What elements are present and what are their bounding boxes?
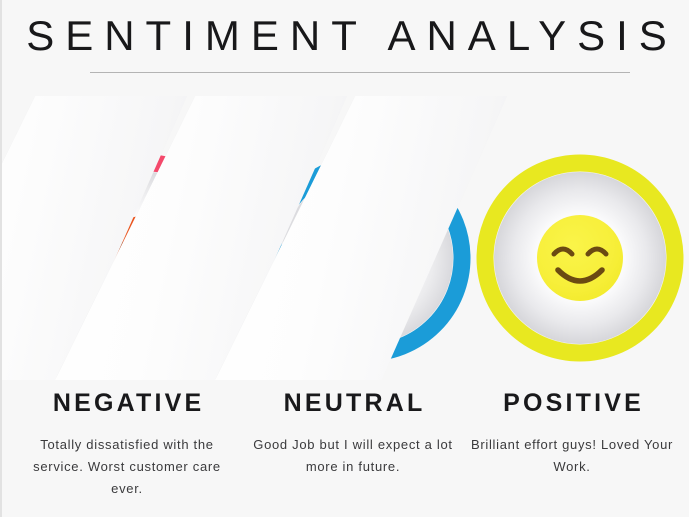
panel-overlay-positive — [215, 96, 507, 380]
positive-indicator[interactable] — [476, 154, 684, 362]
captions: NEGATIVE Totally dissatisfied with the s… — [2, 384, 689, 517]
caption-positive: POSITIVE Brilliant effort guys! Loved Yo… — [457, 384, 687, 478]
caption-negative: NEGATIVE Totally dissatisfied with the s… — [12, 384, 242, 500]
page-title: SENTIMENT ANALYSIS — [2, 8, 689, 64]
category-description-negative: Totally dissatisfied with the service. W… — [12, 434, 242, 500]
smiling-face-icon — [537, 215, 623, 301]
category-description-positive: Brilliant effort guys! Loved Your Work. — [457, 434, 687, 478]
caption-neutral: NEUTRAL Good Job but I will expect a lot… — [238, 384, 468, 478]
category-label-neutral: NEUTRAL — [238, 384, 468, 422]
category-description-neutral: Good Job but I will expect a lot more in… — [238, 434, 468, 478]
category-label-positive: POSITIVE — [457, 384, 687, 422]
category-label-negative: NEGATIVE — [12, 384, 242, 422]
title-divider — [90, 72, 630, 73]
panel-overlay-surface — [215, 96, 507, 380]
header: SENTIMENT ANALYSIS — [2, 0, 689, 88]
sentiment-analysis-infographic: SENTIMENT ANALYSIS — [0, 0, 689, 517]
panel-band — [2, 96, 689, 380]
